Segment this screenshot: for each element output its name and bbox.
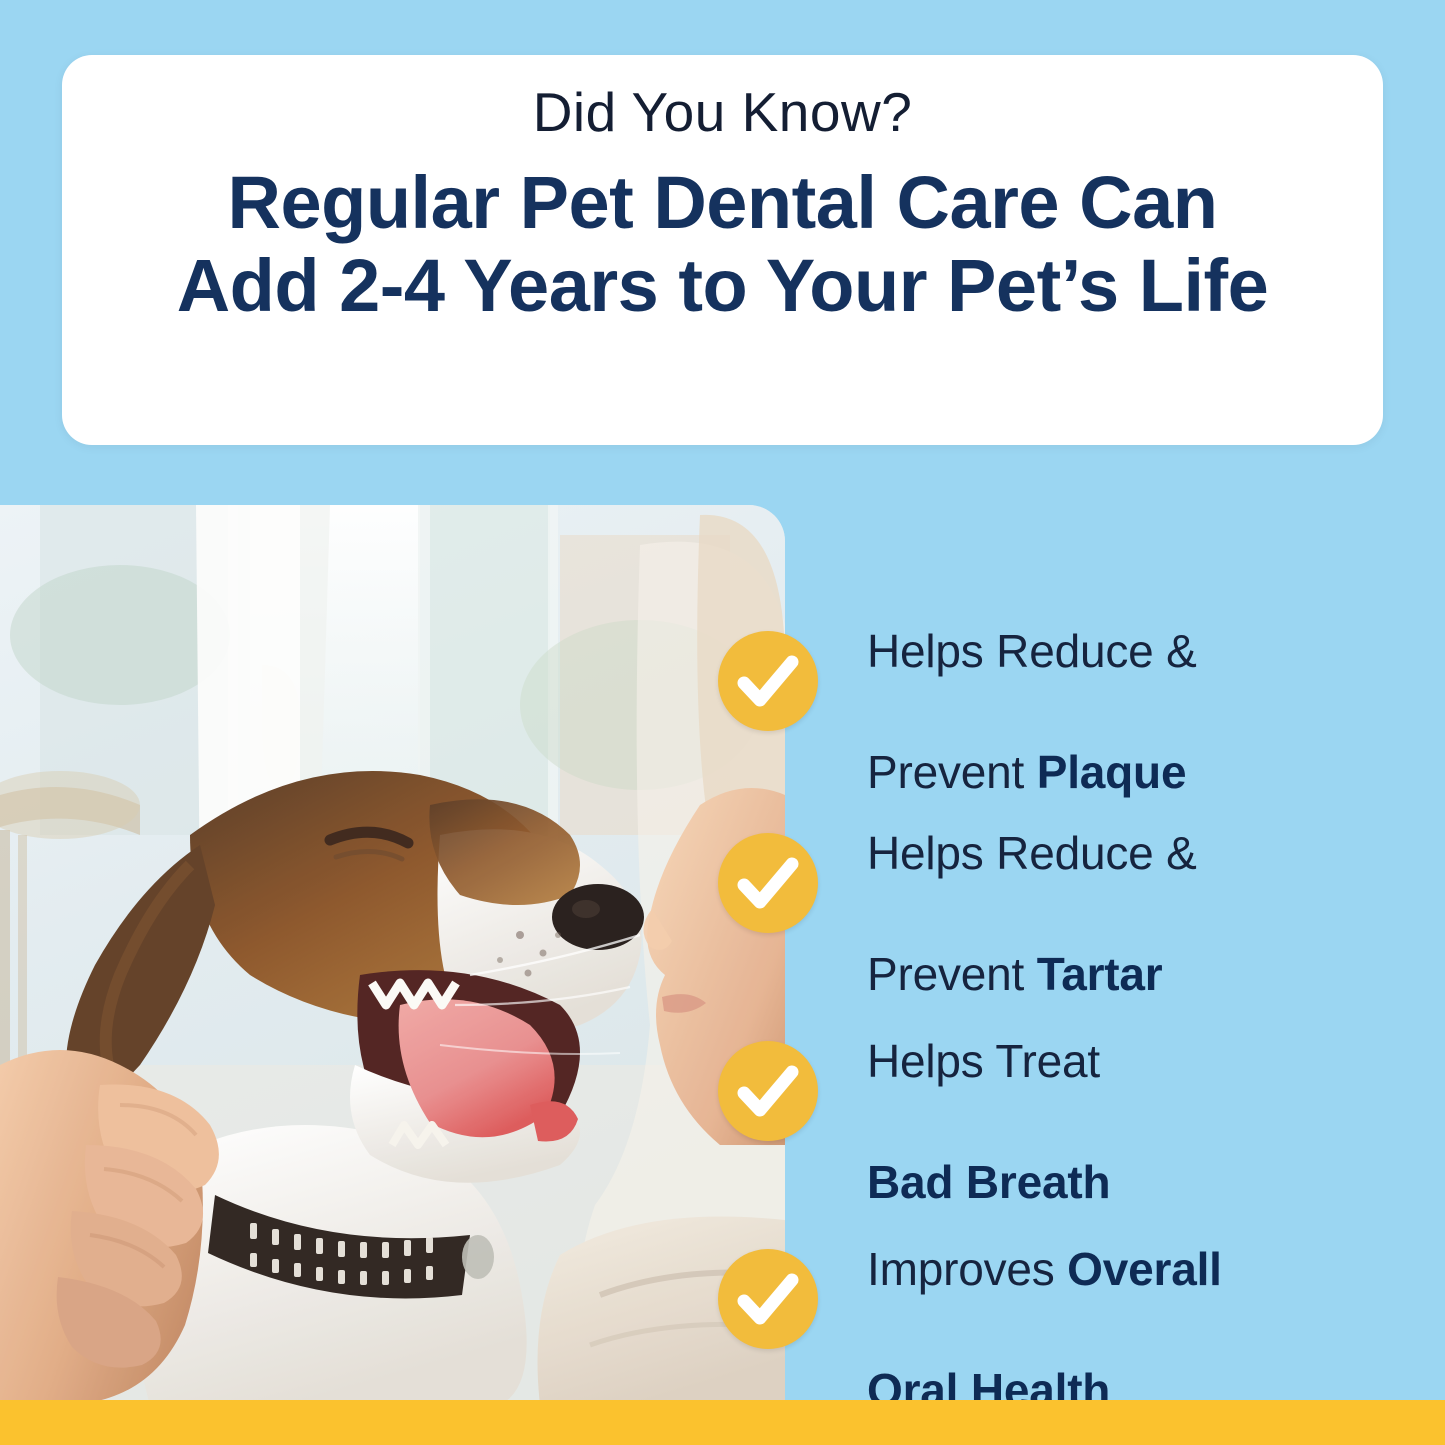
check-circle-icon [718, 833, 818, 933]
benefits-list: Helps Reduce & Prevent Plaque Helps Redu… [718, 560, 1338, 1350]
check-circle-icon [718, 631, 818, 731]
benefit-label-tartar: Helps Reduce & Prevent Tartar [867, 762, 1197, 1005]
check-mark-glyph [718, 1249, 818, 1349]
headline-line-2: Add 2-4 Years to Your Pet’s Life [177, 245, 1269, 328]
check-circle-icon [718, 1249, 818, 1349]
check-circle-icon [718, 1041, 818, 1141]
bottom-accent-bar [0, 1400, 1445, 1445]
benefit-item-tartar: Helps Reduce & Prevent Tartar [718, 762, 1338, 1005]
dog-photo [0, 505, 785, 1405]
benefit-item-oral-health: Improves Overall Oral Health [718, 1178, 1338, 1421]
headline-line-1: Regular Pet Dental Care Can [177, 162, 1269, 245]
benefit-line-1-plain: Improves [867, 1243, 1067, 1295]
benefit-item-bad-breath: Helps Treat Bad Breath [718, 970, 1338, 1213]
benefit-label-bad-breath: Helps Treat Bad Breath [867, 970, 1110, 1213]
hero-card: Did You Know? Regular Pet Dental Care Ca… [62, 55, 1383, 445]
benefit-label-oral-health: Improves Overall Oral Health [867, 1178, 1222, 1421]
check-mark-glyph [718, 1041, 818, 1141]
dog-photo-illustration [0, 505, 785, 1405]
check-mark-glyph [718, 631, 818, 731]
page-title: Regular Pet Dental Care Can Add 2-4 Year… [177, 162, 1269, 328]
benefit-line-1: Helps Reduce & [867, 827, 1197, 879]
benefit-keyword-overall: Overall [1067, 1243, 1222, 1295]
check-mark-glyph [718, 833, 818, 933]
benefit-line-1: Helps Reduce & [867, 625, 1197, 677]
eyebrow-text: Did You Know? [533, 81, 913, 144]
benefit-line-1: Helps Treat [867, 1035, 1100, 1087]
